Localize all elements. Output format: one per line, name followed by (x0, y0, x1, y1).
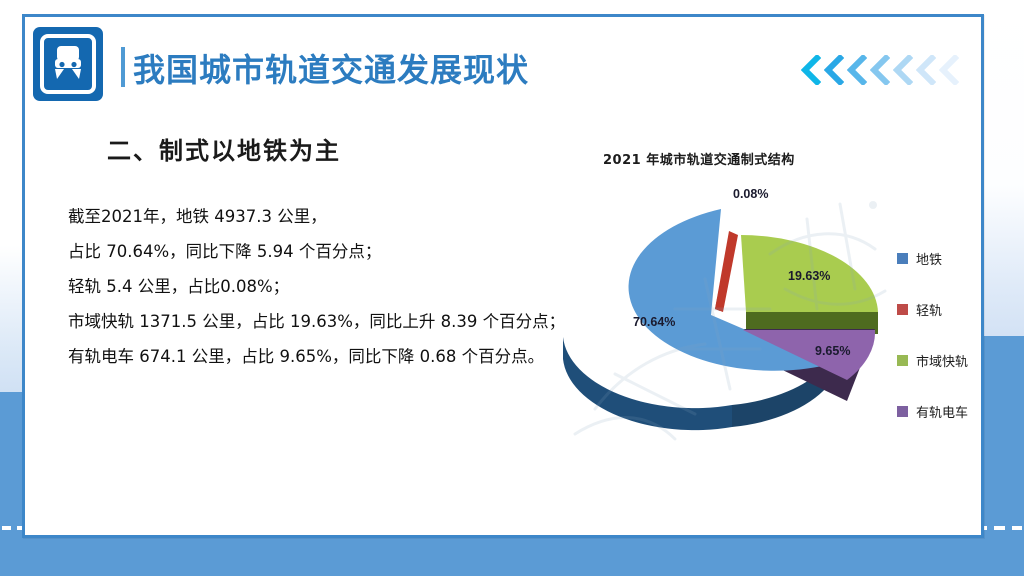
page-title: 我国城市轨道交通发展现状 (133, 45, 529, 91)
pie-graphic (545, 169, 905, 489)
legend-swatch-icon (897, 304, 908, 315)
legend-swatch-icon (897, 253, 908, 264)
metro-train-icon (33, 27, 103, 101)
legend-label: 有轨电车 (916, 402, 968, 421)
pie-chart: 2021 年城市轨道交通制式结构 (545, 129, 985, 509)
chevron-left-icon (893, 55, 913, 85)
body-line: 占比 70.64%，同比下降 5.94 个百分点； (35, 234, 575, 269)
chevron-left-icon (870, 55, 890, 85)
pie-label-suburban: 19.63% (788, 269, 830, 283)
body-line: 轻轨 5.4 公里，占比0.08%； (35, 269, 575, 304)
legend-item-suburban[interactable]: 市域快轨 (897, 351, 968, 370)
pie-label-metro: 70.64% (633, 315, 675, 329)
body-line: 有轨电车 674.1 公里，占比 9.65%，同比下降 0.68 个百分点。 (35, 339, 575, 374)
content-card: 我国城市轨道交通发展现状 二、制式以地铁为主 截至2021年，地铁 4937.3… (22, 14, 984, 538)
chevron-decoration (801, 55, 959, 85)
section-heading: 二、制式以地铁为主 (107, 131, 341, 166)
chevron-left-icon (939, 55, 959, 85)
legend-swatch-icon (897, 406, 908, 417)
body-line: 市域快轨 1371.5 公里，占比 19.63%，同比上升 8.39 个百分点； (35, 304, 575, 339)
chart-title: 2021 年城市轨道交通制式结构 (603, 149, 795, 168)
legend-label: 市域快轨 (916, 351, 968, 370)
legend-label: 轻轨 (916, 300, 942, 319)
chevron-left-icon (916, 55, 936, 85)
legend-item-metro[interactable]: 地铁 (897, 249, 968, 268)
legend-item-tram[interactable]: 有轨电车 (897, 402, 968, 421)
chevron-left-icon (824, 55, 844, 85)
body-line: 截至2021年，地铁 4937.3 公里， (35, 199, 575, 234)
chevron-left-icon (801, 55, 821, 85)
chart-legend: 地铁 轻轨 市域快轨 有轨电车 (897, 249, 968, 421)
title-accent-rule (121, 47, 125, 87)
legend-label: 地铁 (916, 249, 942, 268)
body-text: 截至2021年，地铁 4937.3 公里， 占比 70.64%，同比下降 5.9… (35, 199, 575, 374)
slide-header: 我国城市轨道交通发展现状 (25, 17, 981, 103)
chevron-left-icon (847, 55, 867, 85)
pie-label-tram: 9.65% (815, 344, 850, 358)
slide-root: 我国城市轨道交通发展现状 二、制式以地铁为主 截至2021年，地铁 4937.3… (0, 0, 1024, 576)
legend-swatch-icon (897, 355, 908, 366)
pie-slice-lightrail (715, 231, 738, 312)
pie-label-lightrail: 0.08% (733, 187, 768, 201)
legend-item-lightrail[interactable]: 轻轨 (897, 300, 968, 319)
